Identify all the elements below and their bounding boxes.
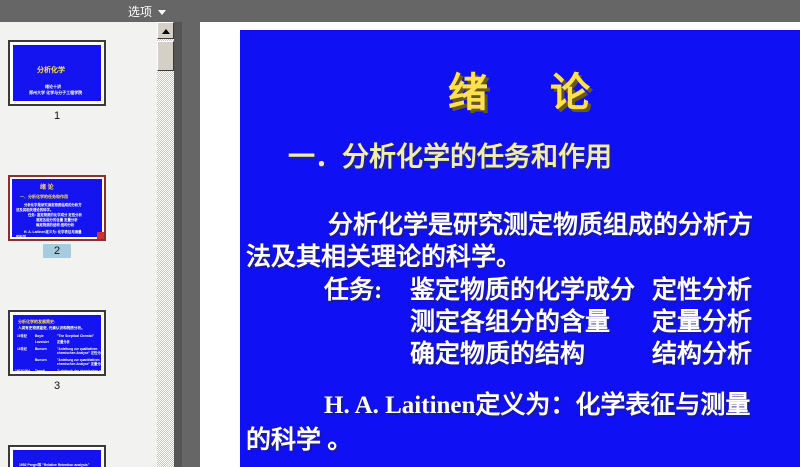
- task-kind: 定性分析: [652, 270, 752, 306]
- slide-section-heading[interactable]: 一．分析化学的任务和作用: [288, 135, 612, 174]
- thumbnail-text-line: "The Sceptical Chemist": [57, 335, 94, 338]
- slide-title-left: 绪: [448, 70, 490, 115]
- options-label: 选项: [128, 3, 152, 20]
- paragraph2-line2[interactable]: 的科学 。: [246, 420, 352, 456]
- task-item: 鉴定物质的化学成分: [410, 270, 635, 306]
- thumbnail-text-line: 1903/1904: [15, 370, 30, 371]
- thumbnail-text-line: 郑州大学 化学与分子工程学院: [29, 91, 82, 95]
- tasks-label: 任务:: [324, 270, 382, 306]
- thumbnail-text-line: 定量分析: [57, 341, 70, 344]
- scrollbar-up-button[interactable]: [157, 22, 174, 39]
- thumbnail-text-line: 18世纪: [17, 348, 27, 351]
- thumbnail-text-line: 法及其相关理论的科学。: [16, 209, 53, 212]
- thumbnail-preview: 分析化学的发展简史:人类有史物质鉴定, 元素认识和物质分析。16世纪Boyle"…: [13, 315, 101, 371]
- scrollbar-track[interactable]: [157, 39, 174, 467]
- thumbnail-text-line: Bunsen: [35, 359, 47, 362]
- thumbnail-text-line: Boyle: [35, 335, 44, 338]
- thumbnail-text-line: 16世纪: [17, 335, 27, 338]
- scrollbar-thumb[interactable]: [157, 41, 174, 71]
- triangle-up-icon: [162, 29, 170, 34]
- pane-divider[interactable]: [174, 22, 182, 467]
- pane-gap: [182, 22, 200, 467]
- thumbnail-text-line: 一．分析化学的任务和作用: [20, 195, 68, 199]
- paragraph1-line1[interactable]: 分析化学是研究测定物质组成的分析方: [328, 205, 753, 241]
- thumbnail-frame[interactable]: 分析化学的发展简史:人类有史物质鉴定, 元素认识和物质分析。16世纪Boyle"…: [8, 310, 106, 376]
- thumbnail-preview: 分析化学绪论十讲郑州大学 化学与分子工程学院: [13, 45, 101, 101]
- sidebar-scrollbar[interactable]: [157, 22, 174, 467]
- chevron-down-icon: [158, 10, 166, 15]
- thumbnail-frame[interactable]: 分析化学绪论十讲郑州大学 化学与分子工程学院: [8, 40, 106, 106]
- thumbnail-text-line: Bunsen: [35, 348, 47, 351]
- thumbnail-frame[interactable]: 绪 论一．分析化学的任务和作用分析化学是研究测定物质组成的分析方法及其相关理论的…: [8, 175, 106, 241]
- citation-text: 定义为：化学表征与测量: [475, 392, 750, 419]
- top-toolbar: 选项: [0, 0, 800, 22]
- task-kind: 结构分析: [652, 334, 752, 370]
- thumbnail-text-line: H. A. Laitinen定义为: 化学表征与测量: [24, 231, 82, 234]
- thumbnail-number: 3: [8, 379, 106, 393]
- thumbnail-text-line: 绪论十讲: [45, 85, 61, 89]
- thumbnail-preview: 1952 Pregel等 "Relative Retention analysi…: [13, 450, 101, 467]
- slide-title[interactable]: 绪论: [240, 60, 800, 118]
- top-toolbar-right-area: [200, 0, 800, 22]
- thumbnail-text-line: "Lehrbuch der chemischen qualitativen: [57, 370, 101, 371]
- thumbnail-text-line: 确定物质的结构 结构分析: [36, 224, 74, 227]
- task-item: 测定各组分的含量: [410, 302, 610, 338]
- citation-author: H. A. Laitinen: [324, 392, 475, 419]
- thumbnail-text-line: 绪 论: [40, 185, 54, 191]
- options-button[interactable]: 选项: [120, 0, 174, 22]
- paragraph1-line2[interactable]: 法及其相关理论的科学。: [246, 237, 521, 273]
- thumbnail-number: 2: [43, 244, 71, 258]
- current-slide[interactable]: 绪论 一．分析化学的任务和作用 分析化学是研究测定物质组成的分析方 法及其相关理…: [240, 30, 800, 467]
- thumbnail-number: 1: [8, 109, 106, 123]
- task-kind: 定量分析: [652, 302, 752, 338]
- slide-thumbnail-1[interactable]: 分析化学绪论十讲郑州大学 化学与分子工程学院1: [8, 40, 106, 123]
- thumbnail-text-line: chemischen Analyse" 定性分析书: [57, 352, 101, 355]
- slide-editing-area[interactable]: 绪论 一．分析化学的任务和作用 分析化学是研究测定物质组成的分析方 法及其相关理…: [200, 22, 800, 467]
- slide-thumbnail-pane[interactable]: 分析化学绪论十讲郑州大学 化学与分子工程学院1绪 论一．分析化学的任务和作用分析…: [0, 22, 157, 467]
- thumbnail-text-line: 的科学 。: [16, 236, 31, 237]
- thumbnail-text-line: Lavoisier: [35, 341, 49, 344]
- thumbnail-text-line: 测定各组分的含量 定量分析: [36, 219, 78, 222]
- thumbnail-text-line: 任务: 鉴定物质的化学成分 定性分析: [28, 214, 82, 217]
- thumbnail-frame[interactable]: 1952 Pregel等 "Relative Retention analysi…: [8, 445, 106, 467]
- thumbnail-text-line: 分析化学的发展简史:: [18, 320, 55, 324]
- thumbnail-text-line: 分析化学: [37, 67, 65, 74]
- slide-thumbnail-3[interactable]: 分析化学的发展简史:人类有史物质鉴定, 元素认识和物质分析。16世纪Boyle"…: [8, 310, 106, 393]
- thumbnail-text-line: Tswett: [35, 370, 45, 371]
- slide-thumbnail-4[interactable]: 1952 Pregel等 "Relative Retention analysi…: [8, 445, 106, 467]
- slide-thumbnail-2[interactable]: 绪 论一．分析化学的任务和作用分析化学是研究测定物质组成的分析方法及其相关理论的…: [8, 175, 106, 258]
- task-item: 确定物质的结构: [410, 334, 585, 370]
- thumbnail-text-line: 分析化学是研究测定物质组成的分析方: [24, 204, 82, 207]
- slide-title-right: 论: [550, 70, 592, 115]
- paragraph2-line1[interactable]: H. A. Laitinen定义为：化学表征与测量: [324, 385, 750, 421]
- thumbnail-text-line: 人类有史物质鉴定, 元素认识和物质分析。: [18, 327, 85, 331]
- thumbnail-preview: 绪 论一．分析化学的任务和作用分析化学是研究测定物质组成的分析方法及其相关理论的…: [12, 179, 102, 237]
- thumbnail-text-line: chemischen Analyse" 定量分析书: [57, 363, 101, 366]
